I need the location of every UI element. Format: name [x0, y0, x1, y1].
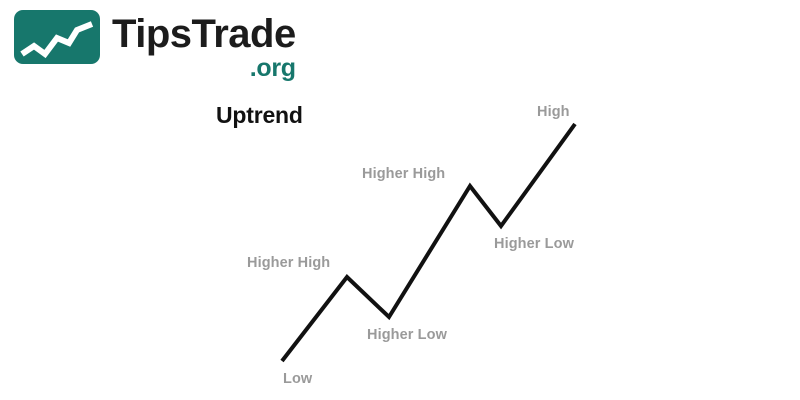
label-high: High — [537, 104, 570, 120]
label-higher-low-1: Higher Low — [367, 327, 447, 343]
label-low: Low — [283, 371, 312, 387]
screenshot-root: TipsTrade .org Uptrend Low Higher High H… — [0, 0, 800, 400]
label-higher-high-2: Higher High — [362, 166, 445, 182]
label-higher-high-1: Higher High — [247, 255, 330, 271]
label-higher-low-2: Higher Low — [494, 236, 574, 252]
